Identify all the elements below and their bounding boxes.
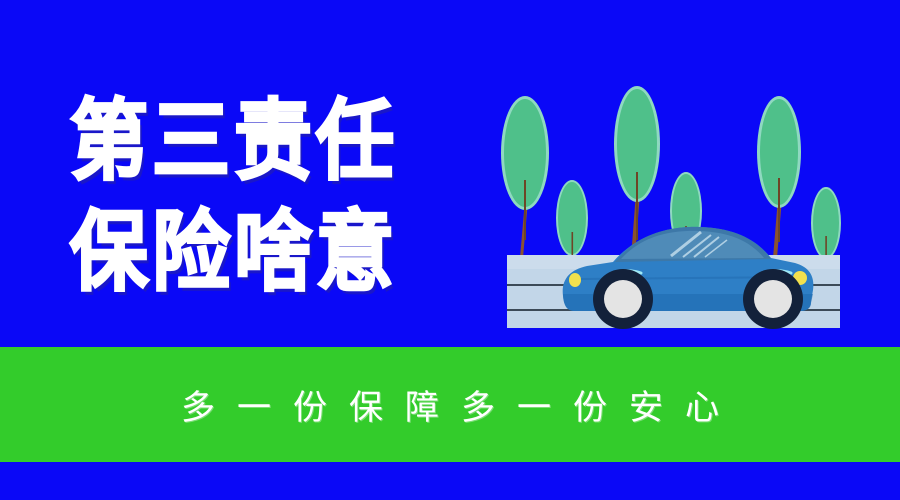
headlight <box>569 273 581 287</box>
bottom-blue-strip <box>0 462 900 500</box>
tagline-banner: 多一份保障多一份安心 <box>0 347 900 462</box>
illustration-car-on-road <box>495 80 855 335</box>
tree-3 <box>614 86 660 258</box>
tree-6 <box>811 187 841 260</box>
tree-2 <box>556 180 588 260</box>
tree-1 <box>501 96 549 258</box>
headline-block: 第三责任 保险啥意 <box>70 98 480 287</box>
tree-5 <box>757 96 801 258</box>
wheel-front <box>593 269 653 329</box>
poster-canvas: 第三责任 保险啥意 <box>0 0 900 500</box>
headline-line-2: 保险啥意 <box>70 209 480 296</box>
wheel-rear <box>743 269 803 329</box>
tagline-text: 多一份保障多一份安心 <box>159 380 741 429</box>
headline-line-1: 第三责任 <box>70 98 480 185</box>
